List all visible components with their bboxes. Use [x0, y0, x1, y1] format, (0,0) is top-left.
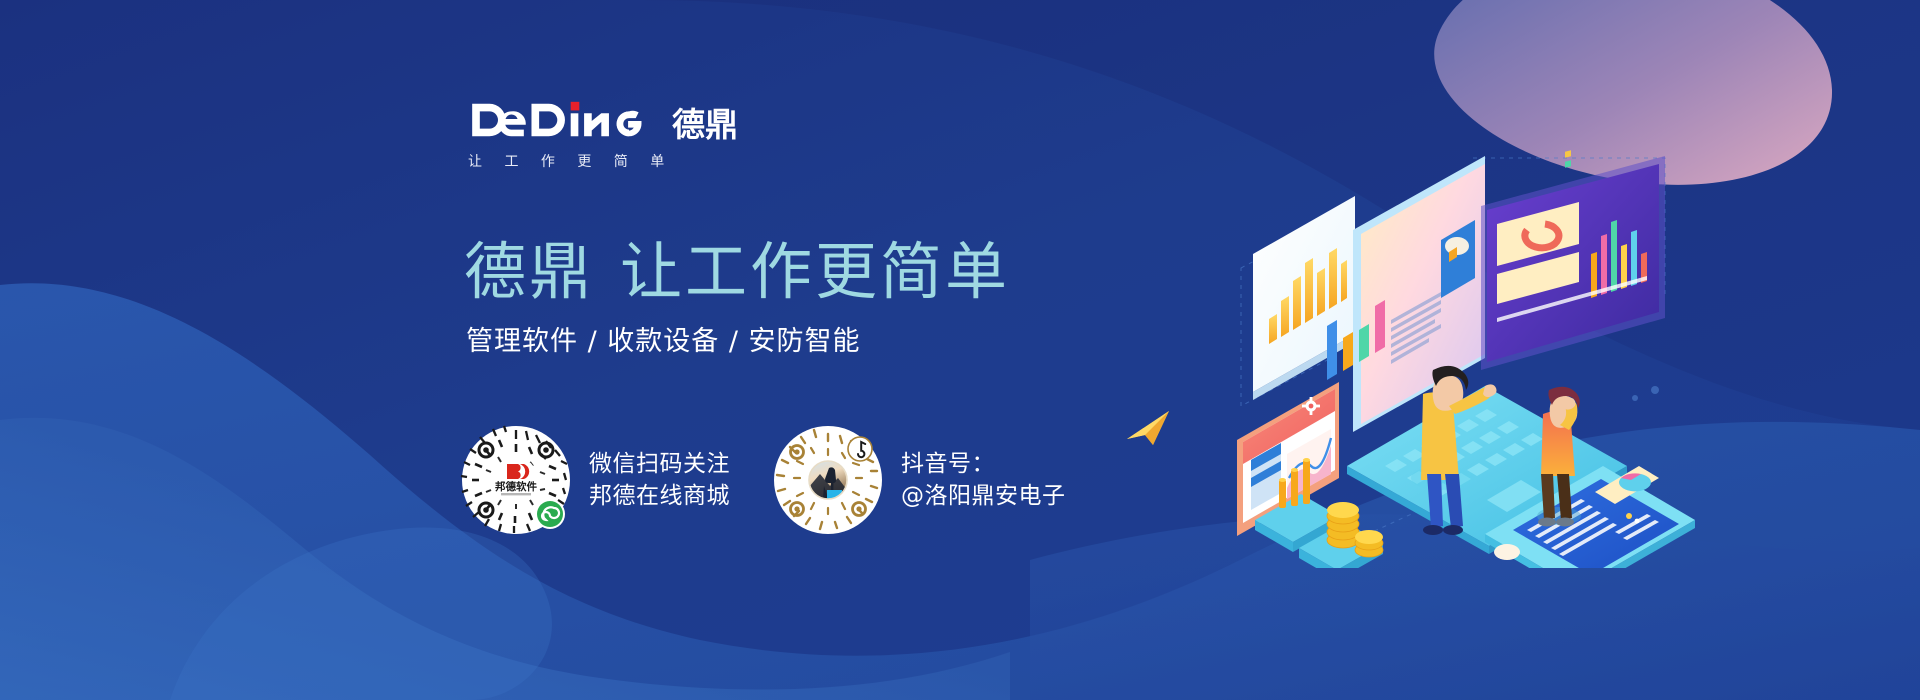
wechat-caption-line2: 邦德在线商城 — [589, 480, 730, 512]
qr-code-group: 邦德软件 微信扫码关注 邦德在线商城 — [460, 424, 1066, 536]
page-subtitle: 管理软件 / 收款设备 / 安防智能 — [466, 324, 861, 360]
headline-slogan: 让工作更简单 — [620, 235, 1010, 308]
douyin-qr-code[interactable] — [772, 424, 884, 536]
douyin-caption-line2: @洛阳鼎安电子 — [901, 480, 1066, 512]
wechat-qr-caption: 微信扫码关注 邦德在线商城 — [589, 448, 730, 512]
svg-text:邦德软件: 邦德软件 — [495, 480, 537, 493]
paper-plane-icon — [1123, 405, 1175, 453]
logo-row: 德鼎 — [466, 96, 766, 142]
isometric-illustration — [1235, 148, 1695, 568]
wordmark-deding — [466, 98, 662, 142]
douyin-caption-line1: 抖音号： — [901, 448, 1066, 480]
qr-item-wechat[interactable]: 邦德软件 微信扫码关注 邦德在线商城 — [460, 424, 730, 536]
music-note-badge — [848, 437, 872, 461]
qr-item-douyin[interactable]: 抖音号： @洛阳鼎安电子 — [772, 424, 1066, 536]
brand-logo[interactable]: 德鼎 让 工 作 更 简 单 — [466, 96, 766, 171]
promo-banner: 德鼎 让 工 作 更 简 单 德鼎让工作更简单 管理软件 / 收款设备 / 安防… — [0, 0, 1920, 700]
page-title: 德鼎让工作更简单 — [464, 237, 1010, 307]
logo-tagline: 让 工 作 更 简 单 — [466, 151, 766, 171]
purple-monitor-panel — [1481, 148, 1665, 370]
bar-chart-panel — [1253, 196, 1355, 400]
wechat-caption-line1: 微信扫码关注 — [589, 448, 730, 480]
logo-chinese-name: 德鼎 — [672, 108, 738, 142]
headline-brand: 德鼎 — [464, 235, 594, 308]
wechat-qr-code[interactable]: 邦德软件 — [460, 424, 572, 536]
wechat-miniprogram-badge — [535, 499, 565, 529]
douyin-qr-caption: 抖音号： @洛阳鼎安电子 — [901, 448, 1066, 512]
